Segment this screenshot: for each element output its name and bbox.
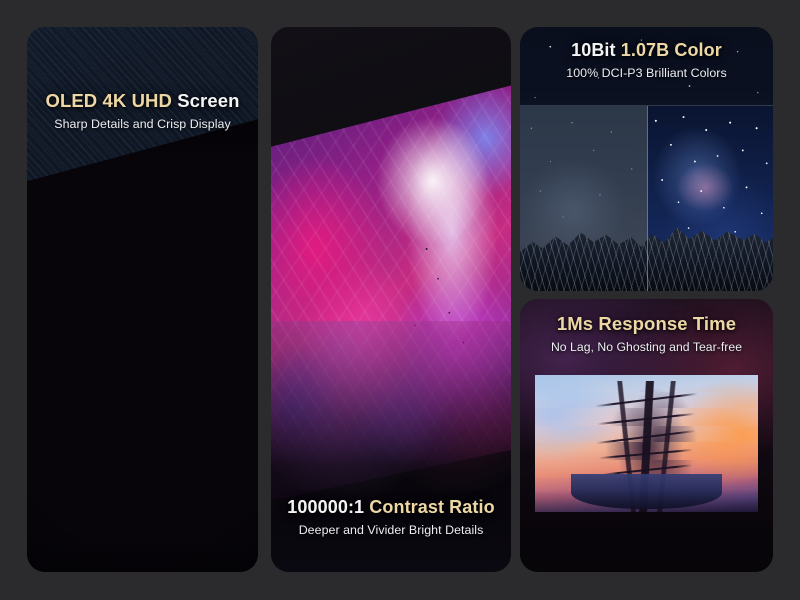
color-comparison-image xyxy=(520,105,773,291)
bottom-shadow-gradient xyxy=(520,490,773,572)
panel-10bit-color[interactable]: 10Bit 1.07B Color 100% DCI-P3 Brilliant … xyxy=(520,27,773,291)
panel-contrast-ratio[interactable]: 100000:1 Contrast Ratio Deeper and Vivid… xyxy=(271,27,511,572)
oled-screen-image xyxy=(27,114,258,572)
header-stars xyxy=(520,27,773,109)
starfield-header xyxy=(520,27,773,109)
comparison-divider xyxy=(647,106,648,291)
panel-response-time[interactable]: 1Ms Response Time No Lag, No Ghosting an… xyxy=(520,299,773,572)
feature-panel-collage: OLED 4K UHD Screen Sharp Details and Cri… xyxy=(0,0,800,600)
lower-glow-gradient xyxy=(271,321,511,572)
panel-oled-4k-uhd[interactable]: OLED 4K UHD Screen Sharp Details and Cri… xyxy=(27,27,258,572)
vignette-overlay xyxy=(27,114,258,572)
